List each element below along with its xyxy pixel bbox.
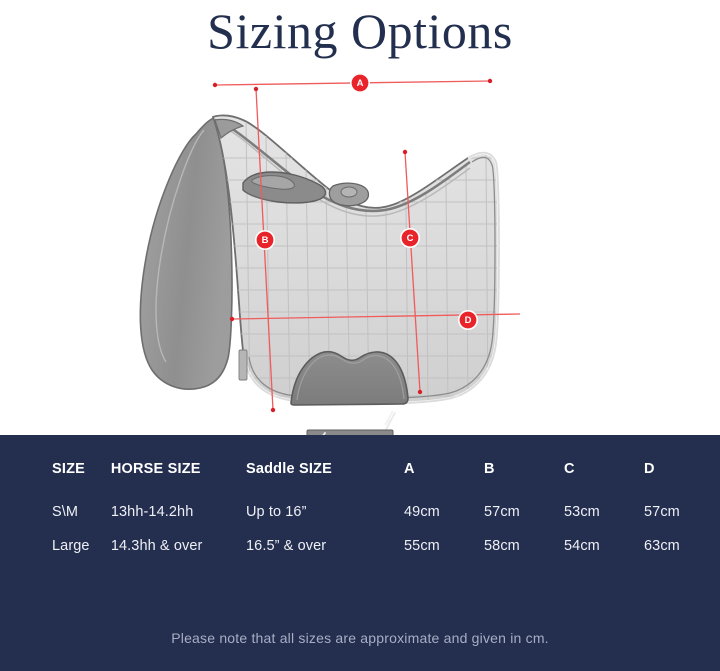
- side-label-tag: [239, 350, 247, 380]
- column-header-horse-size: HORSE SIZE: [103, 455, 240, 495]
- cell-saddle-size: 16.5” & over: [240, 529, 400, 563]
- cell-c: 54cm: [560, 529, 640, 563]
- table-row: S\M 13hh-14.2hh Up to 16” 49cm 57cm 53cm…: [0, 495, 720, 529]
- column-header-b: B: [480, 455, 560, 495]
- cell-d: 57cm: [640, 495, 720, 529]
- marker-label-a: A: [357, 78, 364, 89]
- cell-horse-size: 14.3hh & over: [103, 529, 240, 563]
- cell-horse-size: 13hh-14.2hh: [103, 495, 240, 529]
- approximate-sizes-note: Please note that all sizes are approxima…: [0, 630, 720, 646]
- column-header-size: SIZE: [0, 455, 103, 495]
- cell-a: 55cm: [400, 529, 480, 563]
- brand-wordmark: [384, 410, 396, 432]
- sizing-options-page: Sizing Options: [0, 0, 720, 671]
- size-chart-panel: SIZE HORSE SIZE Saddle SIZE A B C D S\M …: [0, 435, 720, 671]
- column-header-c: C: [560, 455, 640, 495]
- cell-size: Large: [0, 529, 103, 563]
- table-row: Large 14.3hh & over 16.5” & over 55cm 58…: [0, 529, 720, 563]
- column-header-a: A: [400, 455, 480, 495]
- cell-b: 57cm: [480, 495, 560, 529]
- saddle-pad-diagram: A B C D: [0, 62, 720, 435]
- cell-b: 58cm: [480, 529, 560, 563]
- d-ring-tab: [329, 183, 368, 206]
- cell-c: 53cm: [560, 495, 640, 529]
- marker-badge-d: D: [458, 310, 478, 330]
- column-header-saddle-size: Saddle SIZE: [240, 455, 400, 495]
- pad-rear-flap: [140, 118, 232, 389]
- cell-d: 63cm: [640, 529, 720, 563]
- page-title-container: Sizing Options: [0, 0, 720, 62]
- page-title: Sizing Options: [207, 6, 513, 56]
- marker-label-b: B: [262, 235, 269, 246]
- cell-saddle-size: Up to 16”: [240, 495, 400, 529]
- marker-label-d: D: [465, 315, 472, 326]
- marker-badge-a: A: [350, 73, 370, 93]
- marker-badge-b: B: [255, 230, 275, 250]
- marker-label-c: C: [407, 233, 414, 244]
- size-chart-table: SIZE HORSE SIZE Saddle SIZE A B C D S\M …: [0, 455, 720, 563]
- cell-size: S\M: [0, 495, 103, 529]
- cell-a: 49cm: [400, 495, 480, 529]
- table-header-row: SIZE HORSE SIZE Saddle SIZE A B C D: [0, 455, 720, 495]
- marker-badge-c: C: [400, 228, 420, 248]
- column-header-d: D: [640, 455, 720, 495]
- wither-flap-panel: [291, 352, 408, 435]
